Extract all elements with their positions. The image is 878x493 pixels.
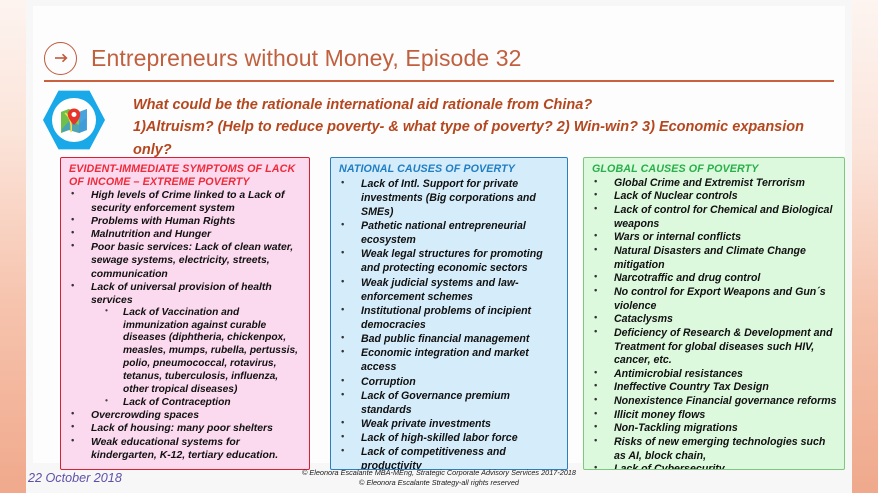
question-line-2: 1)Altruism? (Help to reduce poverty- & w… [133, 116, 833, 161]
column-body: EVIDENT-IMMEDIATE SYMPTOMS OF LACK OF IN… [61, 158, 309, 469]
list-item: Ineffective Country Tax Design [590, 381, 837, 395]
list-item: Narcotraffic and drug control [590, 272, 837, 286]
footer-copyright: © Eleonora Escalante MBA-MEng, Strategic… [0, 468, 878, 489]
list-item: Risks of new emerging technologies such … [590, 436, 837, 463]
column-global-causes: GLOBAL CAUSES OF POVERTY Global Crime an… [583, 157, 845, 470]
list-item-text: Wars or internal conflicts [614, 231, 741, 243]
list-item-text: Non-Tackling migrations [614, 422, 738, 434]
list-item-text: Malnutrition and Hunger [91, 229, 211, 240]
list-item: Bad public financial management [337, 332, 560, 346]
list-item: Problems with Human Rights [67, 215, 302, 228]
column-title: NATIONAL CAUSES OF POVERTY [339, 163, 560, 176]
list-item-text: Problems with Human Rights [91, 216, 235, 227]
list-item: Global Crime and Extremist Terrorism [590, 177, 837, 191]
bullet-list: Global Crime and Extremist Terrorism Lac… [590, 177, 837, 470]
list-item-text: Lack of Governance premium standards [361, 390, 510, 416]
list-item: Wars or internal conflicts [590, 231, 837, 245]
list-item: Weak legal structures for promoting and … [337, 247, 560, 275]
list-item-text: Antimicrobial resistances [614, 368, 743, 380]
title-underline-rule [44, 80, 834, 82]
list-item: Lack of Nuclear controls [590, 190, 837, 204]
list-item-text: Lack of housing: many poor shelters [91, 423, 273, 434]
slide-title-row: Entrepreneurs without Money, Episode 32 [44, 38, 522, 78]
list-item-text: Nonexistence Financial governance reform… [614, 395, 837, 407]
list-item-text: Lack of control for Chemical and Biologi… [614, 204, 832, 230]
question-text: What could be the rationale internationa… [133, 94, 833, 161]
list-item: Non-Tackling migrations [590, 422, 837, 436]
sub-bullet-list: Lack of Vaccination and immunization aga… [91, 307, 302, 410]
list-item-text: Weak judicial systems and law-enforcemen… [361, 277, 519, 303]
list-item: Cataclysms [590, 313, 837, 327]
page-title: Entrepreneurs without Money, Episode 32 [91, 45, 522, 72]
column-body: GLOBAL CAUSES OF POVERTY Global Crime an… [584, 158, 844, 469]
sub-list-item-text: Lack of Contraception [123, 397, 231, 408]
list-item-text: Global Crime and Extremist Terrorism [614, 177, 805, 189]
list-item: Lack of high-skilled labor force [337, 431, 560, 445]
left-decorative-border [0, 0, 26, 493]
list-item-text: Illicit money flows [614, 409, 705, 421]
list-item: Natural Disasters and Climate Change mit… [590, 245, 837, 272]
bullet-list: High levels of Crime linked to a Lack of… [67, 189, 302, 461]
sub-list-item: Lack of Vaccination and immunization aga… [97, 307, 302, 397]
map-pin-hexagon-icon [43, 90, 105, 150]
list-item-text: Ineffective Country Tax Design [614, 381, 769, 393]
list-item-text: Lack of Intl. Support for private invest… [361, 178, 536, 218]
list-item: Deficiency of Research & Development and… [590, 327, 837, 368]
bullet-list: Lack of Intl. Support for private invest… [337, 177, 560, 470]
list-item-text: Corruption [361, 376, 416, 388]
list-item: Pathetic national entrepreneurial ecosys… [337, 219, 560, 247]
column-evident-symptoms: EVIDENT-IMMEDIATE SYMPTOMS OF LACK OF IN… [60, 157, 310, 470]
list-item: Lack of universal provision of health se… [67, 281, 302, 410]
list-item: Lack of Intl. Support for private invest… [337, 177, 560, 219]
list-item: Lack of Governance premium standards [337, 389, 560, 417]
list-item-text: Narcotraffic and drug control [614, 272, 760, 284]
column-title: GLOBAL CAUSES OF POVERTY [592, 163, 837, 176]
list-item-text: Deficiency of Research & Development and… [614, 327, 832, 366]
list-item: Poor basic services: Lack of clean water… [67, 241, 302, 280]
list-item-text: Lack of Nuclear controls [614, 190, 738, 202]
list-item-text: High levels of Crime linked to a Lack of… [91, 190, 284, 214]
list-item: Illicit money flows [590, 409, 837, 423]
list-item: Nonexistence Financial governance reform… [590, 395, 837, 409]
map-icon [59, 105, 89, 135]
list-item-text: Weak private investments [361, 418, 491, 430]
list-item-text: Lack of high-skilled labor force [361, 432, 518, 444]
list-item: Lack of control for Chemical and Biologi… [590, 204, 837, 231]
column-body: NATIONAL CAUSES OF POVERTY Lack of Intl.… [331, 158, 567, 469]
column-title: EVIDENT-IMMEDIATE SYMPTOMS OF LACK OF IN… [69, 163, 302, 188]
copyright-line-1: © Eleonora Escalante MBA-MEng, Strategic… [0, 468, 878, 479]
list-item: Economic integration and market access [337, 346, 560, 374]
list-item-text: Institutional problems of incipient demo… [361, 305, 531, 331]
list-item-text: Cataclysms [614, 313, 673, 325]
column-national-causes: NATIONAL CAUSES OF POVERTY Lack of Intl.… [330, 157, 568, 470]
right-decorative-border [852, 0, 878, 493]
list-item: Weak judicial systems and law-enforcemen… [337, 276, 560, 304]
list-item: High levels of Crime linked to a Lack of… [67, 189, 302, 215]
list-item-text: Economic integration and market access [361, 347, 529, 373]
list-item: No control for Export Weapons and Gun´s … [590, 286, 837, 313]
list-item-text: Natural Disasters and Climate Change mit… [614, 245, 806, 271]
question-line-1: What could be the rationale internationa… [133, 97, 592, 113]
list-item-text: Weak legal structures for promoting and … [361, 248, 543, 274]
list-item-text: No control for Export Weapons and Gun´s … [614, 286, 826, 312]
list-item: Institutional problems of incipient demo… [337, 304, 560, 332]
list-item: Weak private investments [337, 417, 560, 431]
list-item: Overcrowding spaces [67, 409, 302, 422]
circle-arrow-right-icon [44, 42, 77, 75]
list-item: Malnutrition and Hunger [67, 228, 302, 241]
slide-canvas: Entrepreneurs without Money, Episode 32 … [0, 0, 878, 493]
list-item-text: Lack of universal provision of health se… [91, 282, 272, 306]
copyright-line-2: © Eleonora Escalante Strategy-all rights… [0, 478, 878, 489]
list-item-text: Poor basic services: Lack of clean water… [91, 242, 293, 279]
list-item-text: Pathetic national entrepreneurial ecosys… [361, 220, 526, 246]
list-item-text: Risks of new emerging technologies such … [614, 436, 825, 462]
list-item-text: Weak educational systems for kindergarte… [91, 437, 278, 461]
list-item: Corruption [337, 375, 560, 389]
list-item: Weak educational systems for kindergarte… [67, 436, 302, 462]
list-item: Lack of housing: many poor shelters [67, 422, 302, 435]
list-item-text: Lack of competitiveness and productivity [361, 446, 506, 470]
list-item-text: Bad public financial management [361, 333, 529, 345]
sub-list-item: Lack of Contraception [97, 397, 302, 410]
question-band: What could be the rationale internationa… [33, 88, 845, 151]
list-item: Antimicrobial resistances [590, 368, 837, 382]
sub-list-item-text: Lack of Vaccination and immunization aga… [123, 307, 298, 395]
list-item-text: Overcrowding spaces [91, 410, 199, 421]
list-item: Lack of competitiveness and productivity [337, 445, 560, 470]
